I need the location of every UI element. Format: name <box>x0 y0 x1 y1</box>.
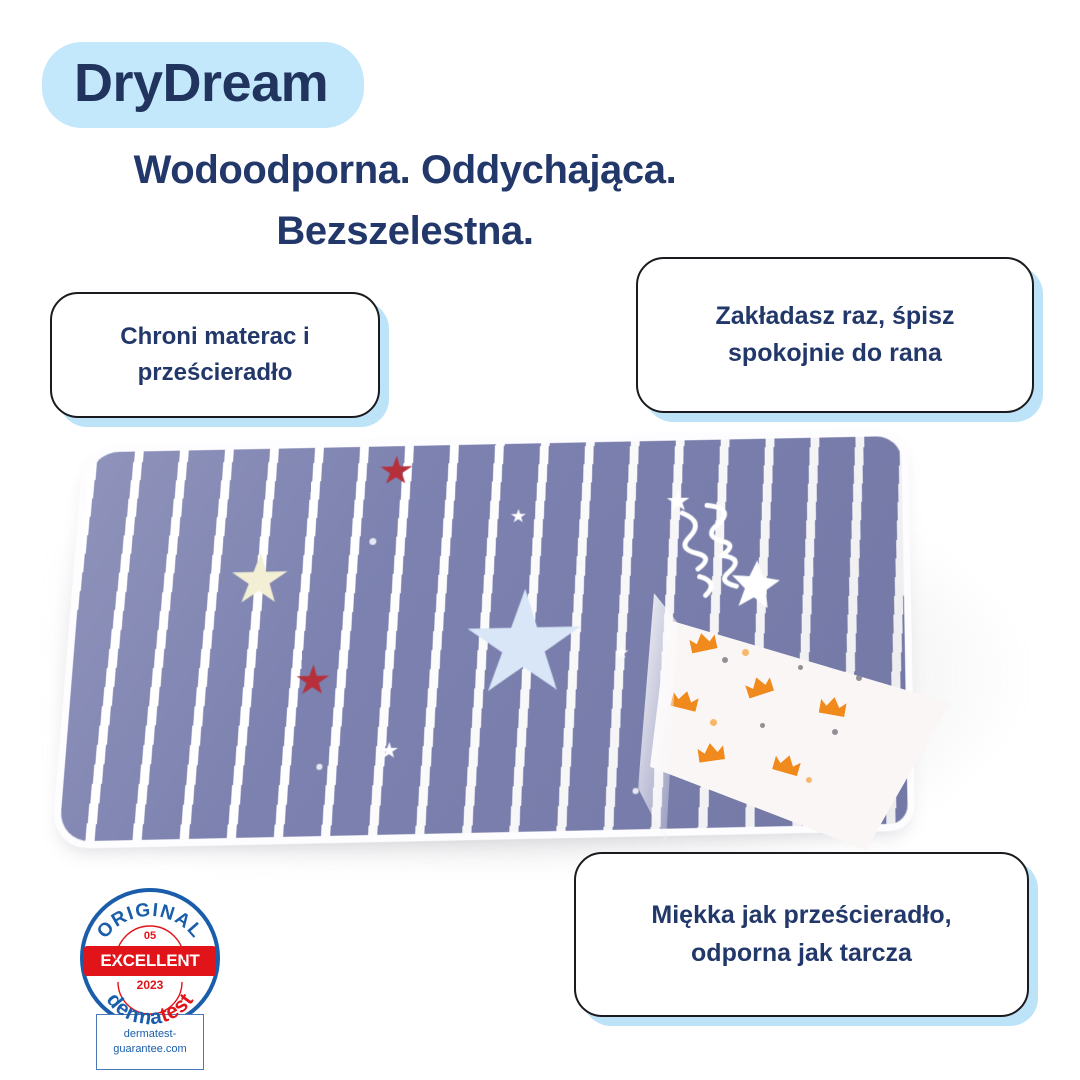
pattern-speck <box>798 665 803 670</box>
seal-arc-original: ORIGINAL <box>93 900 207 943</box>
feature-callout-bottom: Miękka jak prześcieradło, odporna jak ta… <box>574 852 1029 1017</box>
mattress-pad <box>40 425 1050 865</box>
crown-icon <box>697 741 725 762</box>
callout-right-line-2: spokojnie do rana <box>728 339 942 367</box>
crown-icon <box>744 673 774 698</box>
dermatest-seal: ORIGINAL dermatest 05 EXCELLENT 2023 der… <box>72 888 242 1073</box>
star-white-small <box>614 646 628 659</box>
callout-bottom-line-1: Miękka jak prześcieradło, <box>651 901 951 929</box>
headline-line-2: Bezszelestna. <box>0 201 810 262</box>
callout-bottom-line-2: odporna jak tarcza <box>691 939 912 967</box>
pattern-speck <box>722 657 728 663</box>
star-red-upper <box>379 455 414 486</box>
pattern-speck <box>742 649 749 656</box>
pattern-speck <box>760 723 765 728</box>
callout-bottom-text: Miękka jak prześcieradło, odporna jak ta… <box>637 897 965 972</box>
svg-text:ORIGINAL: ORIGINAL <box>93 900 207 943</box>
dot-speck-2 <box>576 560 582 566</box>
callout-right-text: Zakładasz raz, śpisz spokojnie do rana <box>701 298 968 373</box>
star-white-mid <box>510 509 526 524</box>
seal-arc-line-top <box>116 926 184 960</box>
pattern-speck <box>832 729 838 735</box>
seal-brand-derma: derma <box>102 988 164 1029</box>
callout-left-line-2: prześcieradło <box>138 359 293 386</box>
star-red-lower <box>295 664 331 697</box>
star-large <box>463 588 584 702</box>
product-image <box>40 425 1050 865</box>
brand-badge: DryDream <box>42 42 364 128</box>
callout-left-line-1: Chroni materac i <box>120 323 309 350</box>
crown-icon <box>772 752 802 776</box>
pattern-speck <box>710 719 717 726</box>
dot-speck-1 <box>369 538 376 545</box>
dot-speck-5 <box>633 788 639 794</box>
promo-graphic: DryDream Wodoodporna. Oddychająca. Bezsz… <box>0 0 1080 1080</box>
star-white-low <box>380 742 399 760</box>
pattern-speck <box>806 777 812 783</box>
seal-url-line-2: guarantee.com <box>113 1042 186 1057</box>
headline-line-1: Wodoodporna. Oddychająca. <box>134 148 677 192</box>
star-cream <box>229 552 290 607</box>
crown-icon <box>688 630 717 653</box>
brand-name: DryDream <box>74 53 328 113</box>
callout-left-text: Chroni materac i prześcieradło <box>106 319 323 391</box>
feature-callout-left: Chroni materac i prześcieradło <box>50 292 380 418</box>
seal-brand-test: test <box>157 989 198 1027</box>
seal-curved-text: ORIGINAL dermatest <box>72 888 242 1038</box>
callout-right-line-1: Zakładasz raz, śpisz <box>715 302 954 330</box>
svg-text:dermatest: dermatest <box>102 988 198 1029</box>
page-title: Wodoodporna. Oddychająca. Bezszelestna. <box>0 140 810 262</box>
script-text-motif <box>657 482 800 633</box>
crown-icon <box>819 695 848 717</box>
crown-icon <box>670 688 700 712</box>
feature-callout-right: Zakładasz raz, śpisz spokojnie do rana <box>636 257 1034 413</box>
dot-speck-3 <box>316 764 322 770</box>
